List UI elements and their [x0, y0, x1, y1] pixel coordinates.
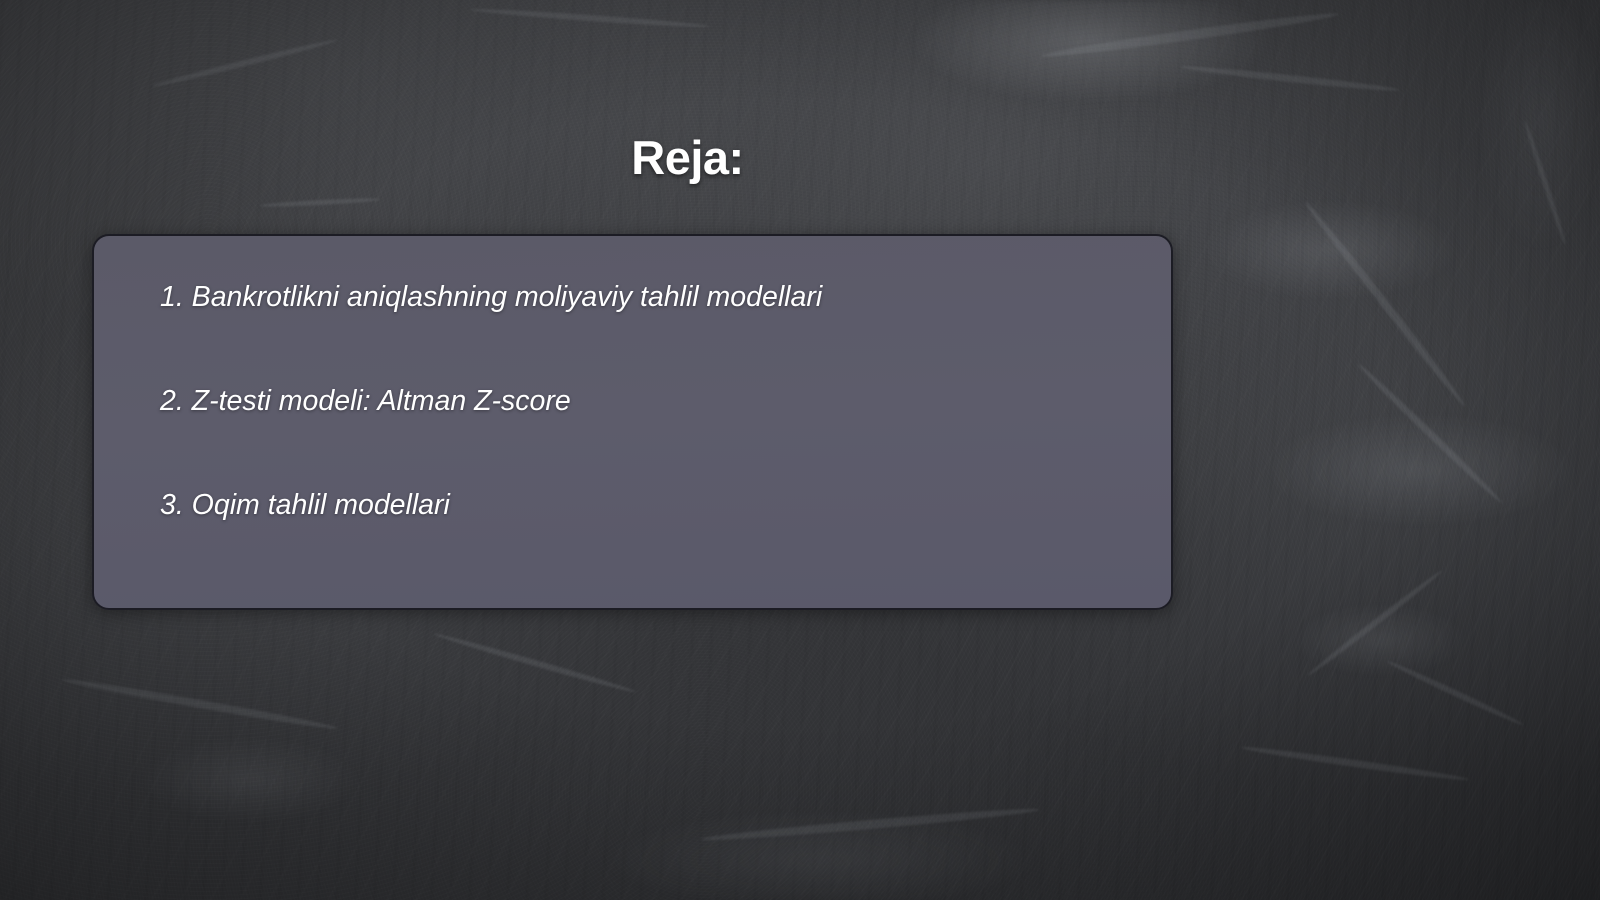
presentation-slide: Reja: 1. Bankrotlikni aniqlashning moliy… — [0, 0, 1600, 900]
list-item: 3. Oqim tahlil modellari — [160, 488, 1141, 524]
list-item: 2. Z-testi modeli: Altman Z-score — [160, 384, 1141, 420]
list-item: 1. Bankrotlikni aniqlashning moliyaviy t… — [160, 280, 1141, 316]
plan-card: 1. Bankrotlikni aniqlashning moliyaviy t… — [92, 234, 1173, 610]
plan-list: 1. Bankrotlikni aniqlashning moliyaviy t… — [160, 280, 1141, 524]
slide-content: Reja: 1. Bankrotlikni aniqlashning moliy… — [0, 0, 1600, 900]
slide-title: Reja: — [0, 130, 1375, 185]
